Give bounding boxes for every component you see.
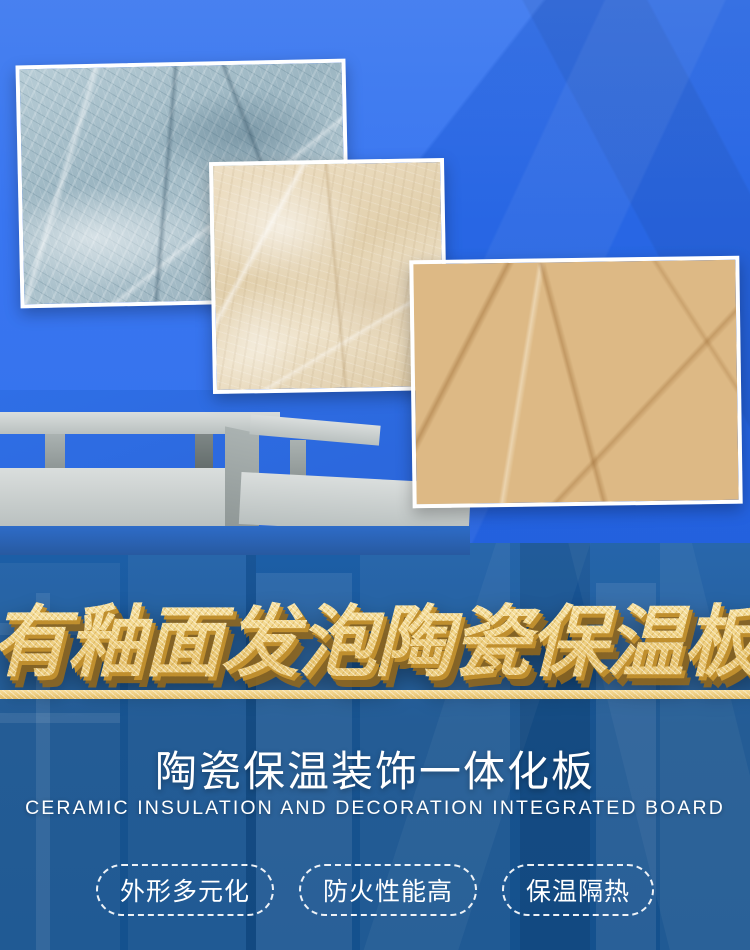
feature-pill-2[interactable]: 防火性能高: [299, 864, 477, 916]
tan-amber-marble-texture: [413, 260, 738, 504]
concrete-column: [195, 434, 213, 470]
product-banner: 有釉面发泡陶瓷保温板 陶瓷保温装饰一体化板 CERAMIC INSULATION…: [0, 0, 750, 950]
feature-pill-3[interactable]: 保温隔热: [502, 864, 654, 916]
main-title-wrap: 有釉面发泡陶瓷保温板: [0, 588, 750, 684]
main-title: 有釉面发泡陶瓷保温板: [0, 580, 750, 692]
building-facade-photo: [0, 390, 470, 555]
gold-divider: [0, 690, 750, 699]
building-silhouette: [0, 713, 120, 723]
glass-curtain-wall: [0, 526, 470, 555]
subtitle-english: CERAMIC INSULATION AND DECORATION INTEGR…: [0, 797, 750, 820]
tile-sample-3[interactable]: [409, 256, 742, 509]
concrete-column: [45, 434, 65, 470]
subtitle-chinese: 陶瓷保温装饰一体化板: [0, 738, 750, 799]
feature-pill-group: 外形多元化 防火性能高 保温隔热: [0, 864, 750, 916]
concrete-panel-wall: [0, 468, 230, 528]
feature-pill-1[interactable]: 外形多元化: [96, 864, 274, 916]
